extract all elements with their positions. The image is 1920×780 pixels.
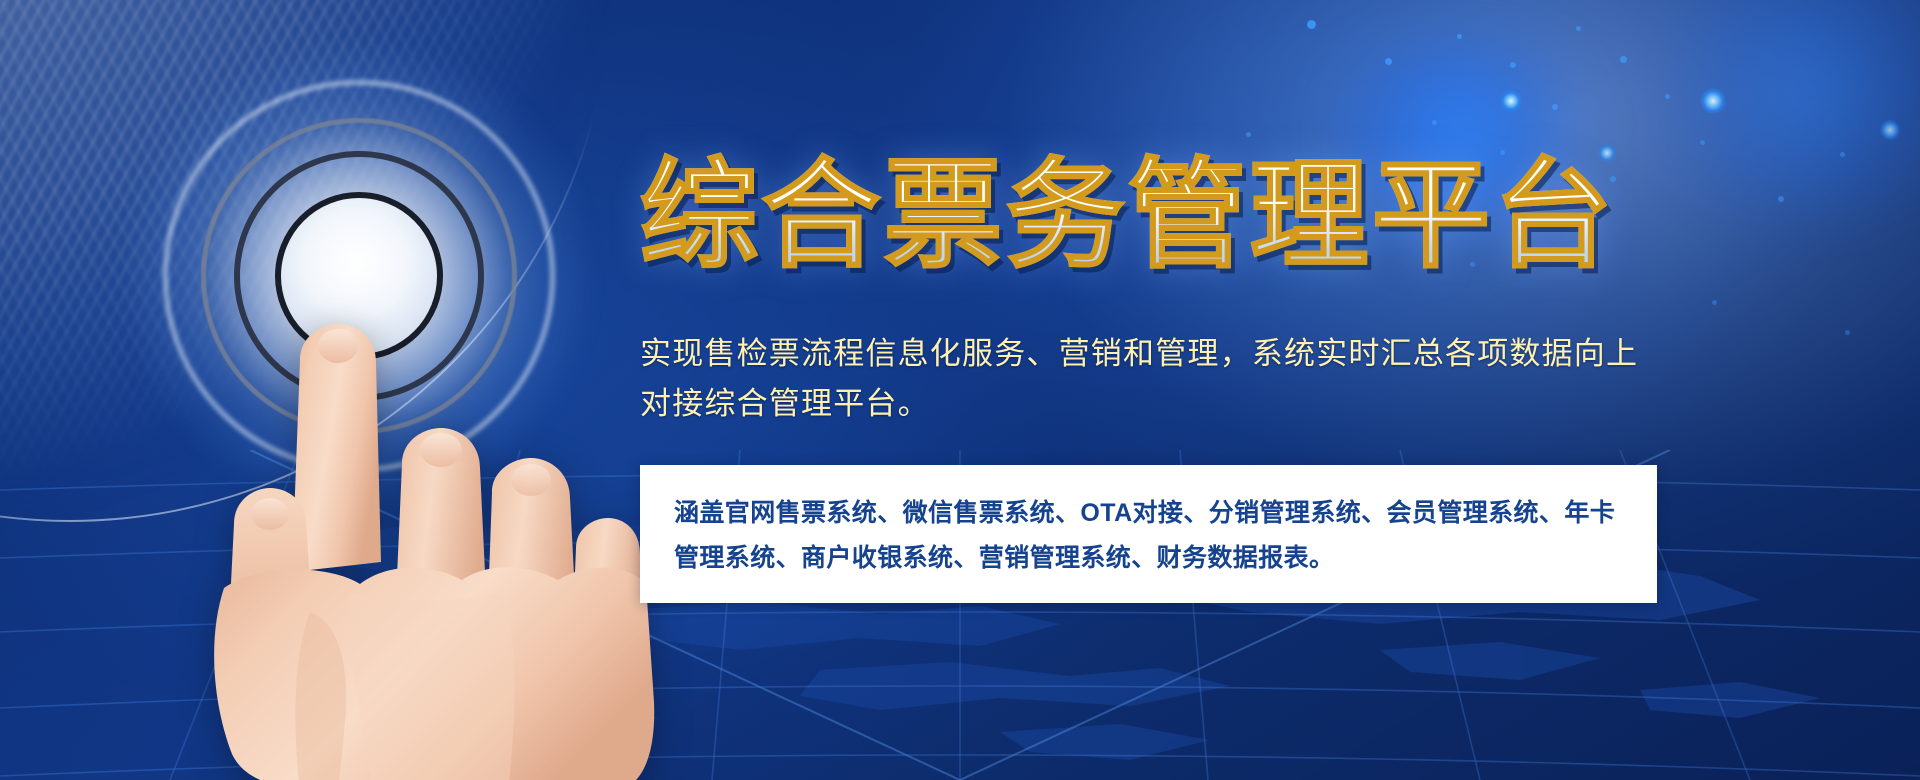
- banner-content: 综合票务管理平台 实现售检票流程信息化服务、营销和管理，系统实时汇总各项数据向上…: [640, 150, 1700, 603]
- touch-ripple-icon: [163, 80, 555, 472]
- feature-list-box: 涵盖官网售票系统、微信售票系统、OTA对接、分销管理系统、会员管理系统、年卡管理…: [640, 465, 1657, 603]
- earth-clouds-icon: [0, 0, 610, 520]
- banner-stage: 综合票务管理平台 实现售检票流程信息化服务、营销和管理，系统实时汇总各项数据向上…: [0, 0, 1920, 780]
- earth-atmosphere-rim-icon: [0, 0, 612, 522]
- hand-pointing-icon: [188, 232, 658, 780]
- feature-list-text: 涵盖官网售票系统、微信售票系统、OTA对接、分销管理系统、会员管理系统、年卡管理…: [674, 491, 1623, 581]
- page-title: 综合票务管理平台: [640, 150, 1700, 285]
- banner-subtitle: 实现售检票流程信息化服务、营销和管理，系统实时汇总各项数据向上对接综合管理平台。: [640, 329, 1650, 429]
- earth-limb-icon: [0, 0, 610, 520]
